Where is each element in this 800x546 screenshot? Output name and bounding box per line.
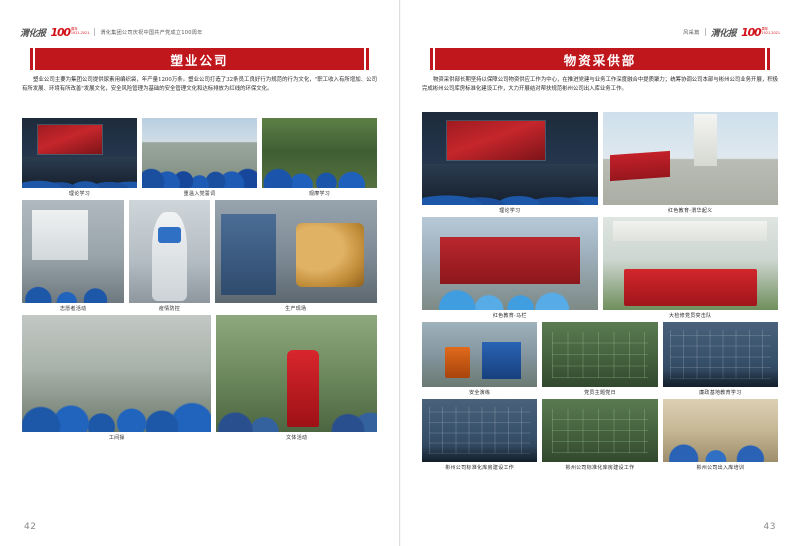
photo-cell: 文体活动 — [216, 315, 377, 441]
running-head-divider — [94, 28, 95, 36]
photo-image — [542, 322, 657, 387]
photo-scene — [603, 217, 779, 310]
photo-caption: 大检修党员突击队 — [603, 312, 779, 319]
photo-cell: 疫情防控 — [129, 200, 209, 312]
photo-scene — [422, 112, 598, 205]
photo-cell: 重温入党誓词 — [142, 118, 257, 197]
photo-row: 理论学习红色教育-渭华起义 — [422, 112, 778, 214]
photo-cell: 彬州公司出入库培训 — [663, 399, 778, 471]
running-head-right: 风采篇 渭化报 100 周年 1921-2021 — [683, 22, 780, 42]
publication-logo: 渭化报 — [20, 26, 46, 39]
photo-scene — [142, 118, 257, 188]
photo-cell: 理论学习 — [22, 118, 137, 197]
photo-caption: 廉政基地教育学习 — [663, 389, 778, 396]
photo-image — [422, 399, 537, 462]
photo-image — [262, 118, 377, 188]
banner-bar-left: 塑业公司 — [35, 48, 364, 70]
photo-caption: 红色教育-渭华起义 — [603, 207, 779, 214]
photo-cell: 红色教育-马栏 — [422, 217, 598, 319]
photo-scene — [22, 200, 124, 303]
photo-scene — [422, 217, 598, 310]
photo-scene — [216, 315, 377, 432]
photo-image — [603, 112, 779, 205]
photo-caption: 彬州公司标准化库房建设工作 — [542, 464, 657, 471]
photo-row: 安全演练党员主题党日廉政基地教育学习 — [422, 322, 778, 396]
photo-cell: 安全演练 — [422, 322, 537, 396]
badge-sub-line2: 1921-2021 — [71, 31, 89, 35]
section-banner-right: 物资采供部 — [430, 48, 770, 70]
photo-cell: 党员主题党日 — [542, 322, 657, 396]
photo-scene — [129, 200, 209, 303]
photo-row: 志愿者活动疫情防控生产现场 — [22, 200, 377, 312]
photo-row: 彬州公司标准化库房建设工作彬州公司标准化库房建设工作彬州公司出入库培训 — [422, 399, 778, 471]
page-number-left: 42 — [24, 522, 36, 532]
photo-scene — [663, 399, 778, 462]
body-text-left: 塑业公司主要为集团公司提供尿素用编织袋，年产量1200万条。塑业公司打造了32条… — [22, 76, 377, 95]
running-head-left: 渭化报 100 周年 1921-2021 渭化集团公司庆祝中国共产党成立100周… — [20, 22, 202, 42]
running-head-section: 风采篇 — [683, 29, 699, 36]
section-title-right: 物资采供部 — [564, 50, 637, 69]
banner-bar-right: 物资采供部 — [435, 48, 765, 70]
section-title-left: 塑业公司 — [170, 50, 228, 69]
photo-grid-right: 理论学习红色教育-渭华起义红色教育-马栏大检修党员突击队安全演练党员主题党日廉政… — [422, 112, 778, 474]
anniversary-badge-sub-right: 周年 1921-2021 — [762, 28, 780, 35]
photo-cell: 生产现场 — [215, 200, 377, 312]
photo-caption: 工间操 — [22, 434, 211, 441]
photo-image — [422, 112, 598, 205]
banner-tick-left-right — [430, 48, 433, 70]
anniversary-badge-number-right: 100 — [741, 27, 760, 38]
photo-row: 理论学习重温入党誓词观摩学习 — [22, 118, 377, 197]
photo-scene — [422, 399, 537, 462]
photo-scene — [22, 118, 137, 188]
banner-tick-right-right — [767, 48, 770, 70]
photo-caption: 重温入党誓词 — [142, 190, 257, 197]
magazine-spread: 渭化报 100 周年 1921-2021 渭化集团公司庆祝中国共产党成立100周… — [0, 0, 800, 546]
photo-image — [216, 315, 377, 432]
photo-caption: 彬州公司标准化库房建设工作 — [422, 464, 537, 471]
photo-caption: 志愿者活动 — [22, 305, 124, 312]
photo-cell: 理论学习 — [422, 112, 598, 214]
photo-caption: 文体活动 — [216, 434, 377, 441]
anniversary-badge-icon-right: 100 周年 1921-2021 — [741, 27, 780, 38]
photo-row: 红色教育-马栏大检修党员突击队 — [422, 217, 778, 319]
photo-image — [22, 315, 211, 432]
photo-grid-left: 理论学习重温入党誓词观摩学习志愿者活动疫情防控生产现场工间操文体活动 — [22, 118, 377, 444]
photo-cell: 廉政基地教育学习 — [663, 322, 778, 396]
photo-caption: 理论学习 — [422, 207, 598, 214]
banner-tick-right — [366, 48, 369, 70]
photo-image — [422, 322, 537, 387]
photo-row: 工间操文体活动 — [22, 315, 377, 441]
page-right: 风采篇 渭化报 100 周年 1921-2021 物资采供部 物资采供部长期坚持… — [400, 0, 800, 546]
banner-tick-left — [30, 48, 33, 70]
section-banner-left: 塑业公司 — [30, 48, 369, 70]
photo-image — [663, 322, 778, 387]
photo-scene — [422, 322, 537, 387]
photo-caption: 观摩学习 — [262, 190, 377, 197]
photo-scene — [603, 112, 779, 205]
running-head-divider-right — [705, 28, 706, 36]
photo-image — [422, 217, 598, 310]
photo-caption: 红色教育-马栏 — [422, 312, 598, 319]
photo-image — [603, 217, 779, 310]
anniversary-badge-number: 100 — [51, 27, 70, 38]
anniversary-badge-icon: 100 周年 1921-2021 — [51, 27, 90, 38]
photo-caption: 理论学习 — [22, 190, 137, 197]
photo-image — [215, 200, 377, 303]
photo-scene — [22, 315, 211, 432]
photo-image — [142, 118, 257, 188]
photo-caption: 党员主题党日 — [542, 389, 657, 396]
photo-caption: 生产现场 — [215, 305, 377, 312]
photo-image — [22, 200, 124, 303]
photo-scene — [663, 322, 778, 387]
photo-cell: 大检修党员突击队 — [603, 217, 779, 319]
running-head-tagline: 渭化集团公司庆祝中国共产党成立100周年 — [100, 29, 202, 36]
photo-cell: 红色教育-渭华起义 — [603, 112, 779, 214]
photo-image — [542, 399, 657, 462]
anniversary-badge-sub: 周年 1921-2021 — [71, 28, 89, 35]
photo-scene — [262, 118, 377, 188]
photo-cell: 观摩学习 — [262, 118, 377, 197]
page-number-right: 43 — [764, 522, 776, 532]
photo-cell: 彬州公司标准化库房建设工作 — [542, 399, 657, 471]
photo-caption: 彬州公司出入库培训 — [663, 464, 778, 471]
badge-sub-line2-right: 1921-2021 — [762, 31, 780, 35]
photo-scene — [215, 200, 377, 303]
photo-cell: 彬州公司标准化库房建设工作 — [422, 399, 537, 471]
photo-caption: 安全演练 — [422, 389, 537, 396]
page-left: 渭化报 100 周年 1921-2021 渭化集团公司庆祝中国共产党成立100周… — [0, 0, 400, 546]
photo-scene — [542, 322, 657, 387]
photo-cell: 志愿者活动 — [22, 200, 124, 312]
photo-image — [22, 118, 137, 188]
photo-cell: 工间操 — [22, 315, 211, 441]
photo-image — [129, 200, 209, 303]
photo-image — [663, 399, 778, 462]
photo-caption: 疫情防控 — [129, 305, 209, 312]
publication-logo-right: 渭化报 — [711, 26, 737, 39]
photo-scene — [542, 399, 657, 462]
body-text-right: 物资采供部长期坚持以保障公司物资供应工作为中心，在推进党建与业务工作深度融合中提… — [422, 76, 778, 95]
